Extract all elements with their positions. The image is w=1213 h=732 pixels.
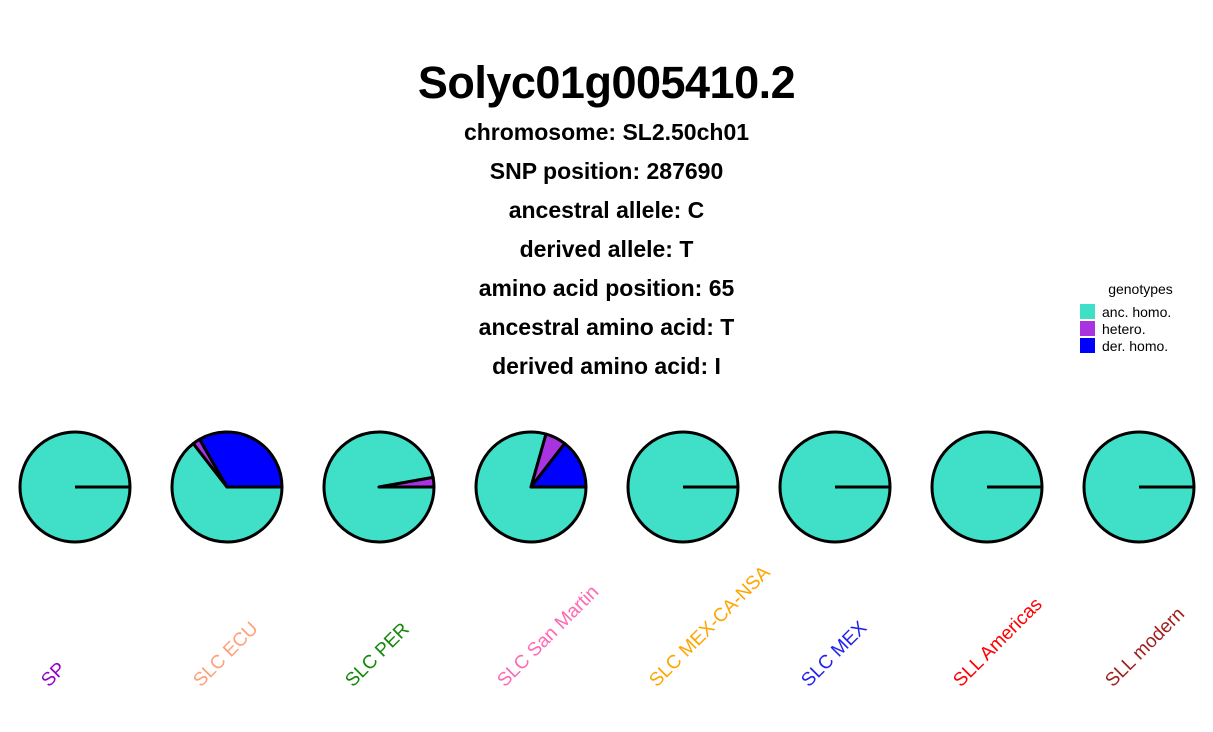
pie-chart-slc-mex[interactable]	[780, 432, 890, 542]
legend-items: anc. homo.hetero.der. homo.	[1080, 303, 1213, 354]
subtitle-chromosome: chromosome: SL2.50ch01	[0, 121, 1213, 144]
subtitle-derived-allele: derived allele: T	[0, 238, 1213, 261]
legend-item-label: anc. homo.	[1102, 304, 1171, 320]
population-label-slc-ecu: SLC ECU	[189, 618, 263, 692]
pie-chart-slc-mex-ca-nsa[interactable]	[628, 432, 738, 542]
pie-slice-anchomo[interactable]	[1084, 432, 1194, 542]
pie-chart-sll-modern[interactable]	[1084, 432, 1194, 542]
subtitle-ancestral-allele: ancestral allele: C	[0, 199, 1213, 222]
pie-slice-derhomo[interactable]	[200, 432, 282, 487]
pie-chart-sp[interactable]	[20, 432, 130, 542]
legend-item-0[interactable]: anc. homo.	[1080, 303, 1213, 320]
pie-slice-hetero[interactable]	[379, 477, 434, 487]
population-label-slc-san-martin: SLC San Martin	[493, 582, 603, 692]
page-title: Solyc01g005410.2	[0, 60, 1213, 105]
pie-slice-anchomo[interactable]	[476, 432, 586, 542]
legend-swatch-icon	[1080, 338, 1095, 353]
pie-slice-derhomo[interactable]	[531, 444, 586, 487]
population-label-slc-per: SLC PER	[341, 619, 414, 692]
legend-swatch-icon	[1080, 304, 1095, 319]
legend-item-2[interactable]: der. homo.	[1080, 337, 1213, 354]
population-label-sll-americas: SLL Americas	[949, 594, 1047, 692]
subtitle-snp-position: SNP position: 287690	[0, 160, 1213, 183]
pie-slice-hetero[interactable]	[531, 434, 565, 487]
pie-chart-slc-ecu[interactable]	[172, 432, 282, 542]
population-label-sll-modern: SLL modern	[1101, 604, 1189, 692]
population-label-slc-mex-ca-nsa: SLC MEX-CA-NSA	[645, 562, 775, 692]
legend-item-1[interactable]: hetero.	[1080, 320, 1213, 337]
pie-chart-slc-per[interactable]	[324, 432, 434, 542]
subtitle-derived-amino-acid: derived amino acid: I	[0, 355, 1213, 378]
legend: genotypes anc. homo.hetero.der. homo.	[1080, 281, 1213, 354]
subtitle-amino-acid-position: amino acid position: 65	[0, 277, 1213, 300]
pie-slice-anchomo[interactable]	[932, 432, 1042, 542]
population-label-sp: SP	[37, 659, 70, 692]
subtitle-ancestral-amino-acid: ancestral amino acid: T	[0, 316, 1213, 339]
pie-slice-hetero[interactable]	[193, 439, 227, 487]
pie-chart-sll-americas[interactable]	[932, 432, 1042, 542]
legend-swatch-icon	[1080, 321, 1095, 336]
pie-slice-anchomo[interactable]	[172, 444, 282, 542]
legend-item-label: hetero.	[1102, 321, 1146, 337]
pie-slice-anchomo[interactable]	[20, 432, 130, 542]
population-label-slc-mex: SLC MEX	[797, 617, 872, 692]
figure-header: Solyc01g005410.2 chromosome: SL2.50ch01 …	[0, 0, 1213, 378]
pie-chart-slc-san-martin[interactable]	[476, 432, 586, 542]
pie-slice-anchomo[interactable]	[780, 432, 890, 542]
legend-item-label: der. homo.	[1102, 338, 1168, 354]
pie-slice-anchomo[interactable]	[628, 432, 738, 542]
pie-slice-anchomo[interactable]	[324, 432, 434, 542]
legend-title: genotypes	[1080, 281, 1213, 297]
